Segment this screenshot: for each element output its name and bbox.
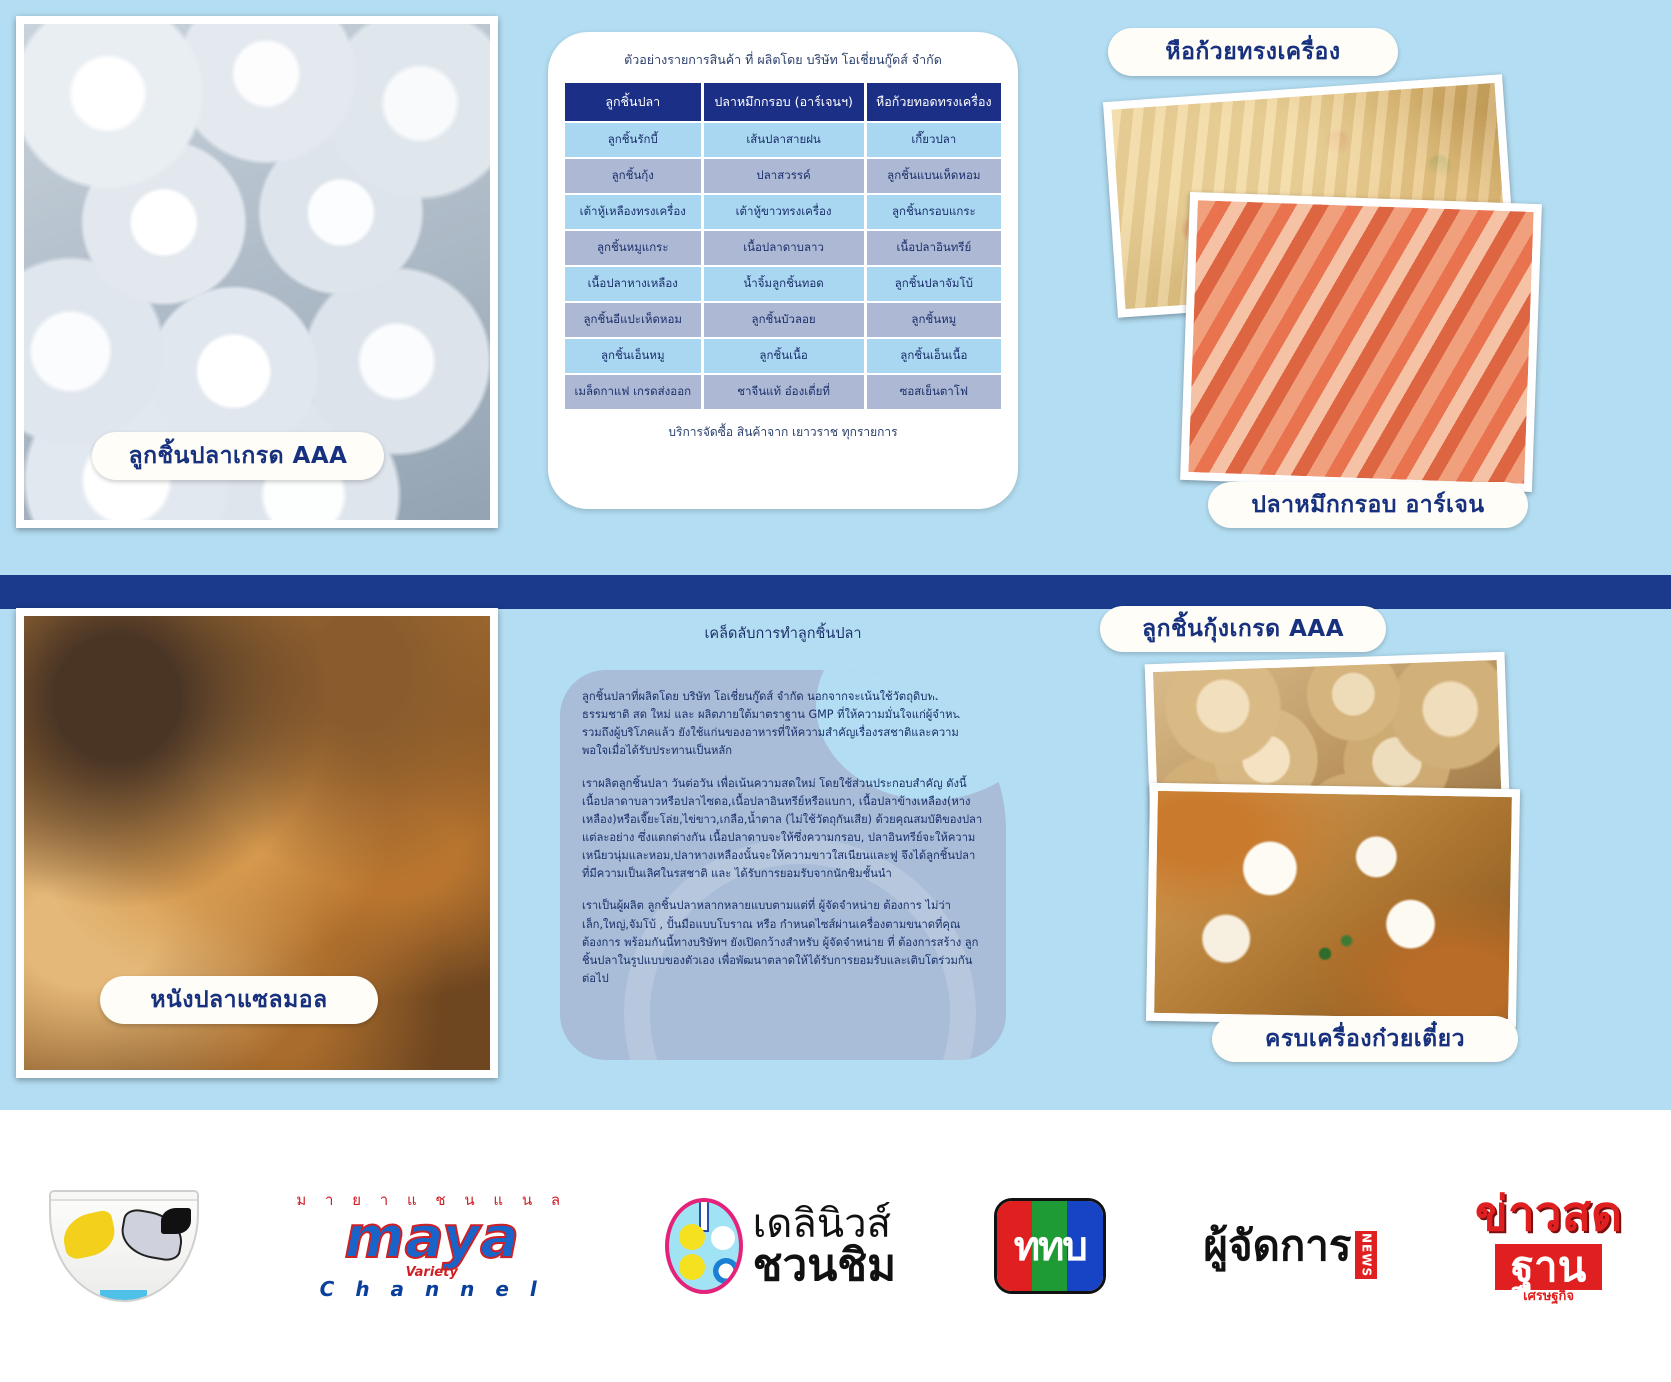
table-cell: ลูกชิ้นแบนเห็ดหอม (867, 159, 1001, 193)
table-cell: ลูกชิ้นกุ้ง (565, 159, 701, 193)
product-table-card: ตัวอย่างรายการสินค้า ที่ ผลิตโดย บริษัท … (548, 32, 1018, 509)
photo-noodle-set-image (1154, 791, 1512, 1019)
bowl-rim (51, 1192, 197, 1201)
table-cell: ลูกชิ้นบัวลอย (704, 303, 864, 337)
section-divider (0, 575, 1671, 605)
table-cell: ลูกชิ้นรักบี้ (565, 123, 701, 157)
table-cell: เนื้อปลาดาบลาว (704, 231, 864, 265)
tv5-icon: ททบ (994, 1198, 1106, 1294)
tv5-logo: ททบ (994, 1198, 1106, 1294)
table-cell: เต้าหู้ขาวทรงเครื่อง (704, 195, 864, 229)
table-cell: ลูกชิ้นเอ็นหมู (565, 339, 701, 373)
manager-label: ผู้จัดการ (1203, 1213, 1351, 1279)
caption-shrimp-ball: ลูกชิ้นกุ้งเกรด AAA (1100, 606, 1386, 652)
bowl-foot (100, 1290, 147, 1300)
yellow-fish-icon (59, 1209, 119, 1261)
khaosod-thansettakij-logo: ข่าวสด ฐาน เศรษฐกิจ (1475, 1190, 1622, 1303)
table-cell: ลูกชิ้นกรอบแกระ (867, 195, 1001, 229)
table-row: ลูกชิ้นรักบี้ เส้นปลาสายฝน เกี๊ยวปลา (565, 123, 1001, 157)
table-cell: น้ำจิ้มลูกชิ้นทอด (704, 267, 864, 301)
table-cell: ปลาสวรรค์ (704, 159, 864, 193)
article-paragraph: ลูกชิ้นปลาที่ผลิตโดย บริษัท โอเชี่ยนกู๊ด… (582, 688, 984, 761)
table-cell: ลูกชิ้นหมู (867, 303, 1001, 337)
table-row: เนื้อปลาหางเหลือง น้ำจิ้มลูกชิ้นทอด ลูกช… (565, 267, 1001, 301)
photo-crispy-squid (1180, 192, 1542, 492)
dailynews-chuanchim-logo: เดลินิวส์ ชวนชิม (665, 1198, 897, 1294)
fish-tail-icon (161, 1208, 191, 1234)
table-row: ลูกชิ้นเอ็นหมู ลูกชิ้นเนื้อ ลูกชิ้นเอ็นเ… (565, 339, 1001, 373)
table-cell: ซอสเย็นตาโฟ (867, 375, 1001, 409)
maya-channel-logo: ม า ย า แ ช น แ น ล maya Variety C h a n… (296, 1193, 567, 1299)
caption-full-noodle-set: ครบเครื่องก๋วยเตี๋ยว (1212, 1016, 1518, 1062)
table-row: ลูกชิ้นอีแปะเห็ดหอม ลูกชิ้นบัวลอย ลูกชิ้… (565, 303, 1001, 337)
table-header-cell: ปลาหมึกกรอบ (อาร์เจนฯ) (704, 83, 864, 121)
dailynews-wrap: เดลินิวส์ ชวนชิม (665, 1198, 897, 1294)
table-cell: ลูกชิ้นอีแปะเห็ดหอม (565, 303, 701, 337)
table-cell: เนื้อปลาอินทรีย์ (867, 231, 1001, 265)
partner-logo-bar: ม า ย า แ ช น แ น ล maya Variety C h a n… (0, 1110, 1671, 1382)
table-cell: ลูกชิ้นปลาจัมโบ้ (867, 267, 1001, 301)
product-table: ลูกชิ้นปลา ปลาหมึกกรอบ (อาร์เจนฯ) หือก้ว… (562, 81, 1004, 411)
photo-crispy-squid-image (1188, 200, 1533, 484)
manager-wrap: ผู้จัดการ NEWS (1203, 1213, 1377, 1279)
emblem-white-circle (711, 1226, 735, 1250)
table-cell: ชาจีนแท้ อ๋องเตี่ยที่ (704, 375, 864, 409)
caption-hoi-krui: หือก้วยทรงเครื่อง (1108, 28, 1398, 76)
settakij-label: เศรษฐกิจ (1475, 1290, 1622, 1303)
maya-logo-wrap: ม า ย า แ ช น แ น ล maya Variety C h a n… (296, 1193, 567, 1299)
khaosod-wrap: ข่าวสด ฐาน เศรษฐกิจ (1475, 1190, 1622, 1303)
article-paragraph: เราเป็นผู้ผลิต ลูกชิ้นปลาหลากหลายแบบตามแ… (582, 897, 984, 988)
table-cell: เส้นปลาสายฝน (704, 123, 864, 157)
table-cell: เกี๊ยวปลา (867, 123, 1001, 157)
than-label: ฐาน (1495, 1244, 1602, 1290)
squid-strips-texture (1188, 200, 1533, 484)
table-header-row: ลูกชิ้นปลา ปลาหมึกกรอบ (อาร์เจนฯ) หือก้ว… (565, 83, 1001, 121)
article-body: ลูกชิ้นปลาที่ผลิตโดย บริษัท โอเชี่ยนกู๊ด… (560, 670, 1006, 1060)
emblem-grape-circle (713, 1258, 739, 1284)
article-title: เคล็ดลับการทำลูกชิ้นปลา (548, 622, 1018, 645)
tv5-label: ททบ (997, 1201, 1103, 1291)
dailynews-text: เดลินิวส์ ชวนชิม (753, 1204, 897, 1288)
fish-bowl-logo (49, 1190, 199, 1302)
dailynews-line2: ชวนชิม (753, 1244, 897, 1288)
product-table-footnote: บริการจัดซื้อ สินค้าจาก เยาวราช ทุกรายกา… (562, 423, 1004, 442)
caption-fishball-grade-aaa: ลูกชิ้นปลาเกรด AAA (92, 432, 384, 480)
table-cell: ลูกชิ้นหมูแกระ (565, 231, 701, 265)
bowl-icon (49, 1190, 199, 1302)
table-row: เต้าหู้เหลืองทรงเครื่อง เต้าหู้ขาวทรงเคร… (565, 195, 1001, 229)
manager-news-badge: NEWS (1355, 1231, 1377, 1279)
maya-wordmark: maya (296, 1208, 567, 1266)
table-row: ลูกชิ้นหมูแกระ เนื้อปลาดาบลาว เนื้อปลาอิ… (565, 231, 1001, 265)
table-cell: เมล็ดกาแฟ เกรดส่งออก (565, 375, 701, 409)
caption-salmon-fish-skin: หนังปลาแซลมอล (100, 976, 378, 1024)
table-cell: เต้าหู้เหลืองทรงเครื่อง (565, 195, 701, 229)
article-panel: เคล็ดลับการทำลูกชิ้นปลา ลูกชิ้นปลาที่ผลิ… (548, 612, 1018, 1072)
emblem-yellow-circle (679, 1224, 705, 1250)
table-row: ลูกชิ้นกุ้ง ปลาสวรรค์ ลูกชิ้นแบนเห็ดหอม (565, 159, 1001, 193)
maya-channel-label: C h a n n e l (296, 1279, 567, 1299)
table-row: เมล็ดกาแฟ เกรดส่งออก ชาจีนแท้ อ๋องเตี่ยท… (565, 375, 1001, 409)
khaosod-label: ข่าวสด (1475, 1190, 1622, 1238)
table-header-cell: ลูกชิ้นปลา (565, 83, 701, 121)
manager-logo: ผู้จัดการ NEWS (1203, 1213, 1377, 1279)
caption-crispy-squid: ปลาหมึกกรอบ อาร์เจน (1208, 482, 1528, 528)
product-table-title: ตัวอย่างรายการสินค้า ที่ ผลิตโดย บริษัท … (562, 50, 1004, 70)
noodle-soup-texture (1154, 791, 1512, 1019)
table-cell: ลูกชิ้นเนื้อ (704, 339, 864, 373)
table-cell: เนื้อปลาหางเหลือง (565, 267, 701, 301)
dailynews-line1: เดลินิวส์ (753, 1204, 897, 1244)
photo-full-noodle-set (1146, 783, 1520, 1027)
dailynews-emblem-icon (665, 1198, 743, 1294)
table-cell: ลูกชิ้นเอ็นเนื้อ (867, 339, 1001, 373)
brochure-page: ลูกชิ้นปลาเกรด AAA ตัวอย่างรายการสินค้า … (0, 0, 1671, 1382)
article-paragraph: เราผลิตลูกชิ้นปลา วันต่อวัน เพื่อเน้นควา… (582, 775, 984, 884)
table-header-cell: หือก้วยทอดทรงเครื่อง (867, 83, 1001, 121)
emblem-yellow-circle (679, 1254, 705, 1280)
